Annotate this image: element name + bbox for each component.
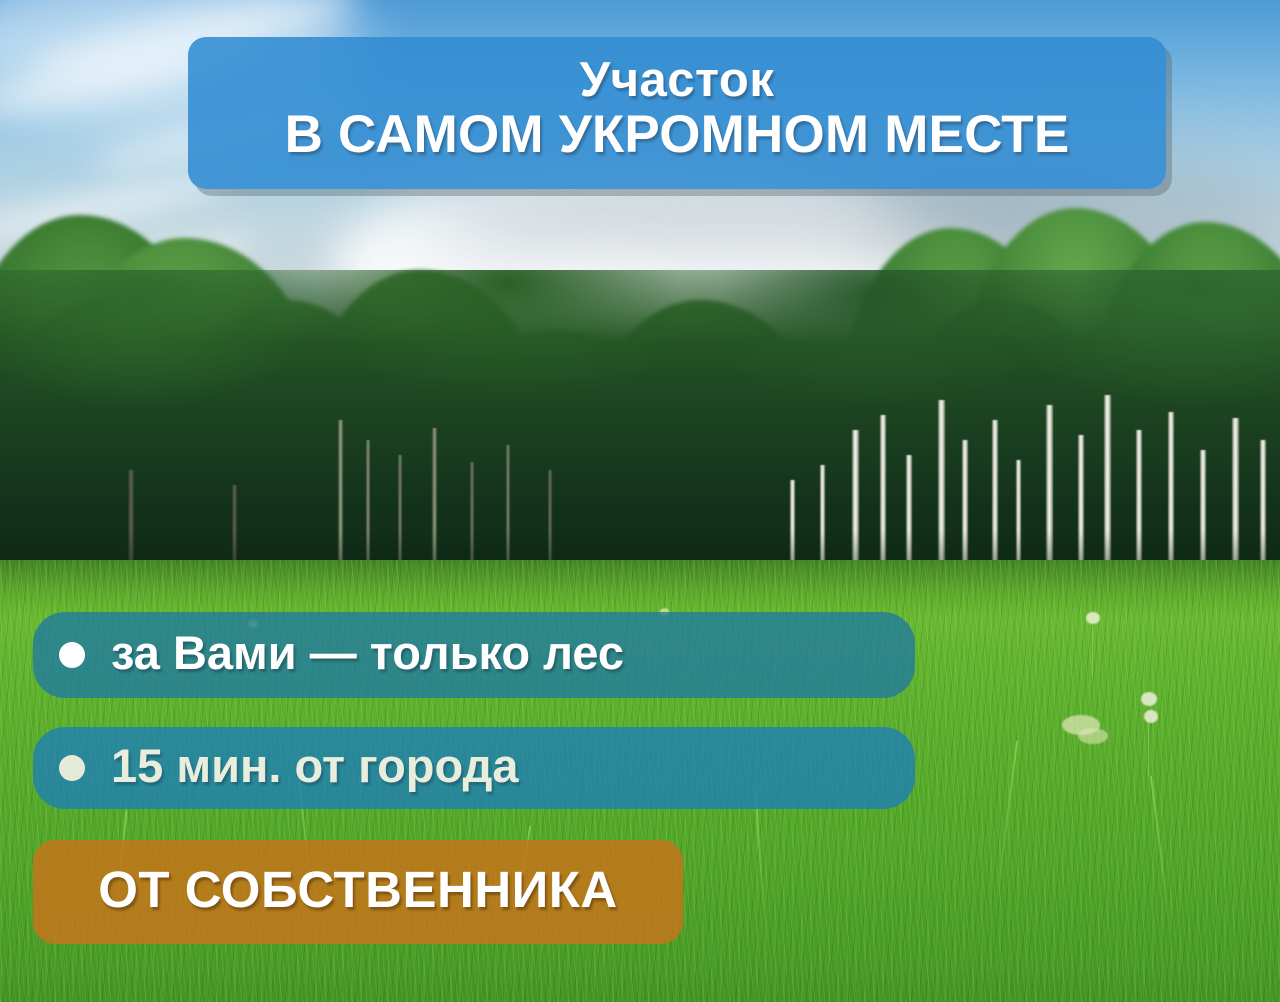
white-umbel-flower <box>1078 728 1108 744</box>
flower-stem <box>1092 626 1093 678</box>
land-plot-advertisement-poster: Участок В САМОМ УКРОМНОМ МЕСТЕ за Вами —… <box>0 0 1280 1002</box>
title-line-secondary: В САМОМ УКРОМНОМ МЕСТЕ <box>285 106 1070 163</box>
bullet-dot-icon <box>59 642 85 668</box>
feature-text-distance: 15 мин. от города <box>111 742 519 794</box>
feature-banner-distance: 15 мин. от города <box>33 727 915 809</box>
title-banner: Участок В САМОМ УКРОМНОМ МЕСТЕ <box>188 37 1166 189</box>
dandelion-flower <box>1141 692 1157 706</box>
dandelion-flower <box>1144 710 1158 723</box>
title-line-primary: Участок <box>580 56 775 106</box>
owner-banner: ОТ СОБСТВЕННИКА <box>33 840 683 944</box>
bullet-dot-icon <box>59 755 85 781</box>
owner-banner-text: ОТ СОБСТВЕННИКА <box>98 864 618 915</box>
feature-text-forest: за Вами — только лес <box>111 629 624 681</box>
feature-banner-forest: за Вами — только лес <box>33 612 915 698</box>
dandelion-flower <box>1086 612 1100 624</box>
